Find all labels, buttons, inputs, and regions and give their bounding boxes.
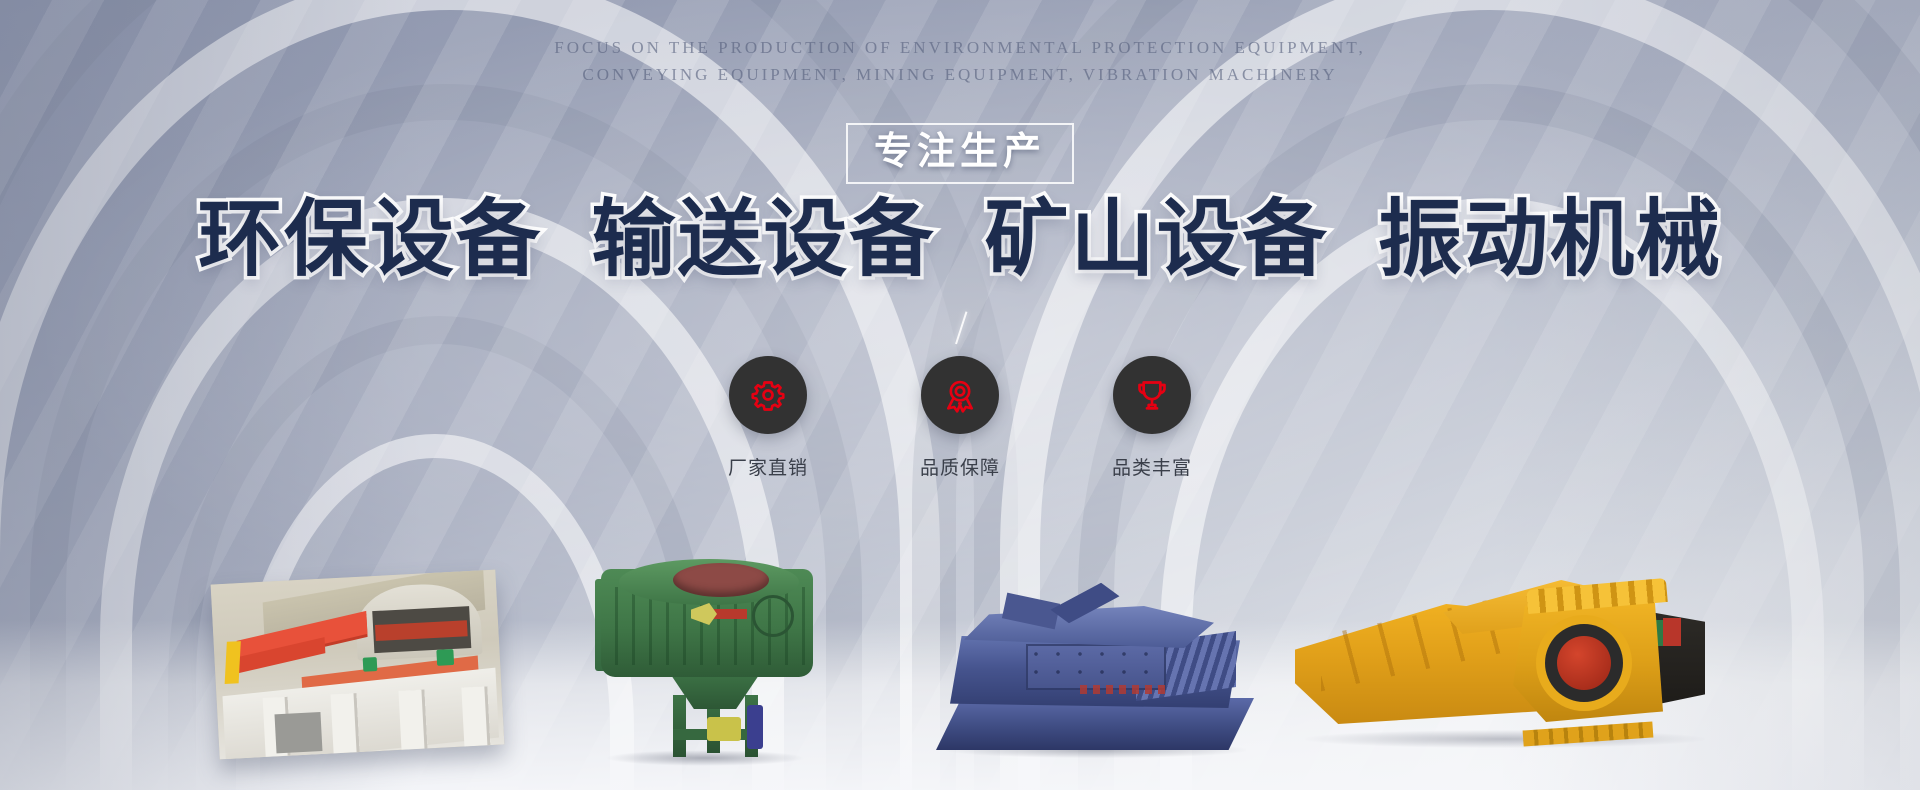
medal-icon: [940, 375, 980, 415]
product-showcase: [0, 430, 1920, 790]
headline-word-1: 环保设备: [198, 192, 542, 286]
page-title: 环保设备 输送设备 矿山设备 振动机械: [0, 194, 1920, 285]
machine-environmental-protection-equipment-photo: [211, 570, 505, 760]
machine-green-disc-feeder: [595, 557, 820, 762]
feature-icon-circle: [729, 356, 807, 434]
feature-icon-circle: [921, 356, 999, 434]
trophy-icon: [1132, 375, 1172, 415]
headline-word-4: 振动机械: [1378, 192, 1722, 286]
focus-production-badge: 专注生产: [846, 123, 1074, 184]
headline-word-2: 输送设备: [591, 192, 935, 286]
feature-icon-circle: [1113, 356, 1191, 434]
machine-blue-vibrating-screen: [930, 581, 1260, 756]
machine-yellow-jaw-crusher: [1295, 546, 1715, 746]
gear-icon: [748, 375, 788, 415]
headline-word-3: 矿山设备: [985, 192, 1329, 286]
hero-banner: Focus on the production of environmental…: [0, 0, 1920, 790]
badge-container: 专注生产: [0, 123, 1920, 184]
english-strapline: Focus on the production of environmental…: [0, 34, 1920, 88]
